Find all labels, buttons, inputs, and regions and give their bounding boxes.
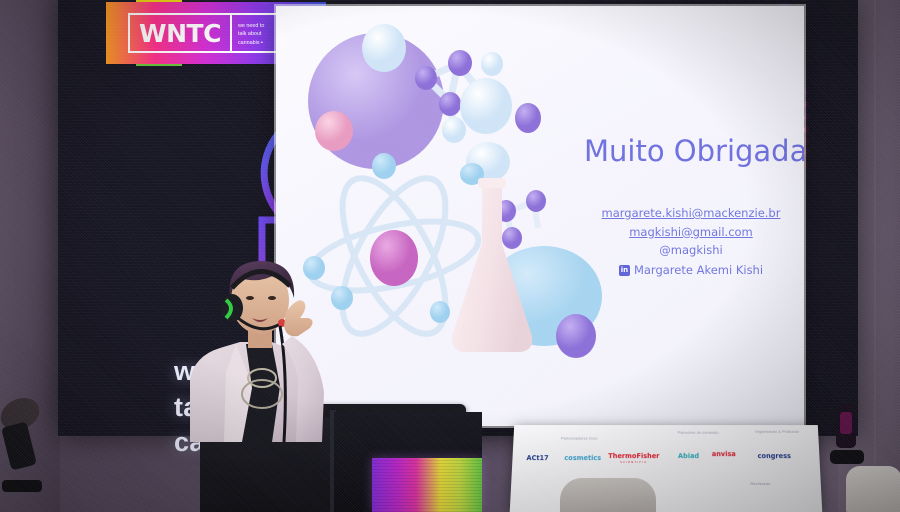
sponsor-category-heading: Patrocinadores Ouro [561,437,598,441]
molecule-node [448,50,472,76]
sponsor-category-heading: Organizacao & Producao [755,430,799,434]
wntc-wordmark: WNTC [130,15,230,51]
violet-sphere-bottom [556,314,596,358]
molecule-node [439,92,461,116]
molecule-node [526,190,546,212]
slide-title: Muito Obrigada! [584,134,794,168]
sponsor-logo-subtitle: SCIENTIFIC [608,460,659,464]
sponsor-category-heading: Patrocinio de conteudo [678,431,719,435]
slide-contact-block: margarete.kishi@mackenzie.br magkishi@gm… [576,204,804,280]
presentation-slide: Muito Obrigada! margarete.kishi@mackenzi… [276,6,804,426]
contact-email-primary-link[interactable]: margarete.kishi@mackenzie.br [602,206,781,220]
speaker-eye-right [268,296,276,300]
contact-email-secondary-link[interactable]: magkishi@gmail.com [629,225,753,239]
molecule-node [442,117,466,143]
chair-center [560,478,656,512]
violet-sphere-right [515,103,541,133]
sponsor-category-heading: Realizacao [750,482,770,486]
white-sphere-on-purple [362,24,406,72]
contact-linkedin-name: Margarete Akemi Kishi [634,261,763,280]
sponsor-logo-anvisa: anvisa [712,450,736,458]
sponsor-logo-congress: congress [758,452,792,460]
pale-blue-sphere [460,78,512,134]
molecule-node [502,227,522,249]
speaker-presenter [168,252,348,442]
contact-linkedin-row[interactable]: in Margarete Akemi Kishi [576,261,804,280]
sponsor-logo-cosmetica: cosmetics [564,454,601,462]
contact-email-secondary[interactable]: magkishi@gmail.com [576,223,804,242]
wall-seam [874,0,876,512]
sponsor-banner: Patrocinadores OuroPatrocinio de conteud… [510,425,823,512]
conference-photo-scene: WNTC we need to talk about cannabis ▪ [0,0,900,512]
atom-electron [430,301,450,323]
contact-email-primary[interactable]: margarete.kishi@mackenzie.br [576,204,804,223]
stage-light-left [0,388,50,512]
podium-led-screen [372,458,482,512]
sponsor-logo-thermofisher: ThermoFisherSCIENTIFIC [608,452,659,464]
sponsor-logo-act17: ACt17 [526,454,549,462]
speaker-eye-left [246,296,254,300]
molecule-node [415,66,437,90]
linkedin-icon: in [619,265,630,276]
pink-sphere [315,111,353,151]
atom-electron [372,153,396,179]
atom-nucleus [370,230,418,286]
contact-social-handle: @magkishi [576,241,804,260]
chair-right [846,466,900,512]
molecule-node [481,52,503,76]
sponsor-logo-abiad: Abiad [678,452,699,460]
